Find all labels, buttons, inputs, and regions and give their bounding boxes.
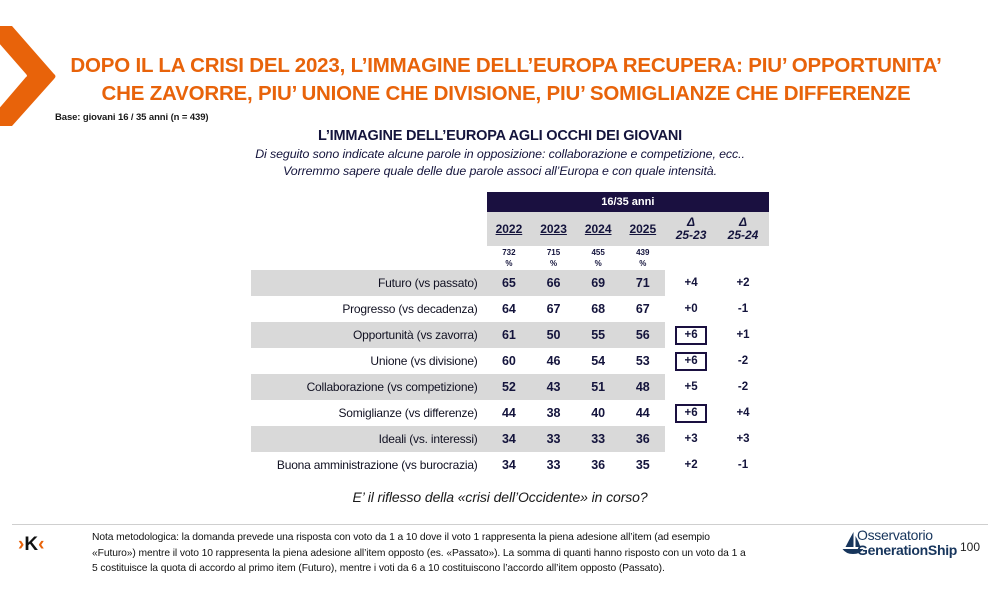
- chart-subtitle-line-2: Vorremmo sapere quale delle due parole a…: [283, 164, 717, 178]
- cell-2024: 51: [576, 374, 621, 400]
- cell-delta-25-23: +6: [665, 348, 717, 374]
- base-note: Base: giovani 16 / 35 anni (n = 439): [55, 112, 208, 123]
- column-header-2025: 2025: [620, 212, 665, 246]
- cell-2024: 54: [576, 348, 621, 374]
- chart-subtitle-line-1: Di seguito sono indicate alcune parole i…: [255, 147, 745, 161]
- cell-2024: 69: [576, 270, 621, 296]
- cell-2022: 60: [487, 348, 532, 374]
- cell-delta-25-23: +3: [665, 426, 717, 452]
- column-header-delta-25-23: Δ 25-23: [665, 212, 717, 246]
- cell-2024: 33: [576, 426, 621, 452]
- cell-2023: 46: [531, 348, 576, 374]
- closing-question: E’ il riflesso della «crisi dell’Occiden…: [150, 489, 850, 505]
- sample-size-spacer: [251, 246, 487, 270]
- cell-delta-25-23: +4: [665, 270, 717, 296]
- slide-title-line-2: CHE ZAVORRE, PIU’ UNIONE CHE DIVISIONE, …: [56, 80, 956, 108]
- table-group-header-row: 16/35 anni: [251, 192, 769, 212]
- cell-delta-25-23: +5: [665, 374, 717, 400]
- chart-subtitle: Di seguito sono indicate alcune parole i…: [150, 146, 850, 180]
- table-row: Opportunità (vs zavorra)61505556+6+1: [251, 322, 769, 348]
- cell-delta-25-23: +6: [665, 322, 717, 348]
- cell-delta-25-23: +0: [665, 296, 717, 322]
- cell-2025: 35: [620, 452, 665, 478]
- sample-size-2025: 439%: [620, 246, 665, 270]
- cell-2025: 67: [620, 296, 665, 322]
- row-label: Somiglianze (vs differenze): [251, 400, 487, 426]
- table-row: Unione (vs divisione)60465453+6-2: [251, 348, 769, 374]
- sample-size-delta-2: [717, 246, 769, 270]
- cell-2025: 56: [620, 322, 665, 348]
- cell-2023: 38: [531, 400, 576, 426]
- page-number: 100: [960, 540, 980, 554]
- cell-delta-25-24: +1: [717, 322, 769, 348]
- group-header-label: 16/35 anni: [487, 192, 769, 212]
- table-sample-size-row: 732% 715% 455% 439%: [251, 246, 769, 270]
- methodology-note: Nota metodologica: la domanda prevede un…: [92, 530, 752, 577]
- cell-2025: 44: [620, 400, 665, 426]
- cell-2024: 40: [576, 400, 621, 426]
- column-header-2023: 2023: [531, 212, 576, 246]
- column-header-delta-25-24: Δ 25-24: [717, 212, 769, 246]
- cell-delta-25-24: +2: [717, 270, 769, 296]
- data-table: 16/35 anni 2022 2023 2024 2025 Δ 25-23 Δ…: [251, 192, 769, 478]
- row-label: Unione (vs divisione): [251, 348, 487, 374]
- table-column-header-row: 2022 2023 2024 2025 Δ 25-23 Δ 25-24: [251, 212, 769, 246]
- cell-2025: 36: [620, 426, 665, 452]
- chart-title: L’IMMAGINE DELL’EUROPA AGLI OCCHI DEI GI…: [150, 128, 850, 144]
- brand-logo: Osservatorio GenerationShip: [857, 528, 957, 558]
- row-label: Futuro (vs passato): [251, 270, 487, 296]
- highlighted-delta-value: +6: [675, 326, 706, 345]
- row-label: Opportunità (vs zavorra): [251, 322, 487, 348]
- cell-delta-25-24: -1: [717, 296, 769, 322]
- cell-delta-25-24: -2: [717, 374, 769, 400]
- cell-2024: 68: [576, 296, 621, 322]
- cell-2024: 55: [576, 322, 621, 348]
- cell-2023: 50: [531, 322, 576, 348]
- row-label: Progresso (vs decadenza): [251, 296, 487, 322]
- cell-2025: 71: [620, 270, 665, 296]
- table-row: Collaborazione (vs competizione)52435148…: [251, 374, 769, 400]
- cell-2023: 33: [531, 426, 576, 452]
- cell-2022: 44: [487, 400, 532, 426]
- row-label: Buona amministrazione (vs burocrazia): [251, 452, 487, 478]
- cell-delta-25-23: +6: [665, 400, 717, 426]
- cell-2023: 66: [531, 270, 576, 296]
- table-row: Futuro (vs passato)65666971+4+2: [251, 270, 769, 296]
- sample-size-2024: 455%: [576, 246, 621, 270]
- column-header-2024: 2024: [576, 212, 621, 246]
- cell-2023: 43: [531, 374, 576, 400]
- table-row: Buona amministrazione (vs burocrazia)343…: [251, 452, 769, 478]
- highlighted-delta-value: +6: [675, 404, 706, 423]
- cell-2025: 53: [620, 348, 665, 374]
- cell-2023: 67: [531, 296, 576, 322]
- sample-size-delta-1: [665, 246, 717, 270]
- cell-2022: 52: [487, 374, 532, 400]
- sample-size-2022: 732%: [487, 246, 532, 270]
- highlighted-delta-value: +6: [675, 352, 706, 371]
- brand-line-2: GenerationShip: [857, 543, 957, 558]
- row-label: Collaborazione (vs competizione): [251, 374, 487, 400]
- cell-2023: 33: [531, 452, 576, 478]
- cell-2024: 36: [576, 452, 621, 478]
- table-row: Ideali (vs. interessi)34333336+3+3: [251, 426, 769, 452]
- cell-2022: 61: [487, 322, 532, 348]
- cell-delta-25-24: -1: [717, 452, 769, 478]
- column-header-2022: 2022: [487, 212, 532, 246]
- cell-delta-25-24: +3: [717, 426, 769, 452]
- cell-2022: 65: [487, 270, 532, 296]
- k-logo: ›K‹: [18, 534, 88, 558]
- cell-2022: 64: [487, 296, 532, 322]
- slide-title: DOPO IL LA CRISI DEL 2023, L’IMMAGINE DE…: [56, 52, 956, 108]
- table-row: Progresso (vs decadenza)64676867+0-1: [251, 296, 769, 322]
- k-logo-letter: K: [24, 534, 38, 555]
- column-header-spacer: [251, 212, 487, 246]
- cell-2025: 48: [620, 374, 665, 400]
- cell-2022: 34: [487, 426, 532, 452]
- cell-delta-25-24: +4: [717, 400, 769, 426]
- brand-line-1: Osservatorio: [857, 528, 957, 543]
- k-logo-right-chevron-icon: ‹: [38, 534, 44, 555]
- sample-size-2023: 715%: [531, 246, 576, 270]
- slide-title-line-1: DOPO IL LA CRISI DEL 2023, L’IMMAGINE DE…: [70, 54, 941, 77]
- row-label: Ideali (vs. interessi): [251, 426, 487, 452]
- cell-2022: 34: [487, 452, 532, 478]
- cell-delta-25-24: -2: [717, 348, 769, 374]
- table-row: Somiglianze (vs differenze)44384044+6+4: [251, 400, 769, 426]
- cell-delta-25-23: +2: [665, 452, 717, 478]
- footer-divider: [12, 524, 988, 525]
- orange-chevron-decoration: [0, 24, 58, 128]
- group-header-spacer: [251, 192, 487, 212]
